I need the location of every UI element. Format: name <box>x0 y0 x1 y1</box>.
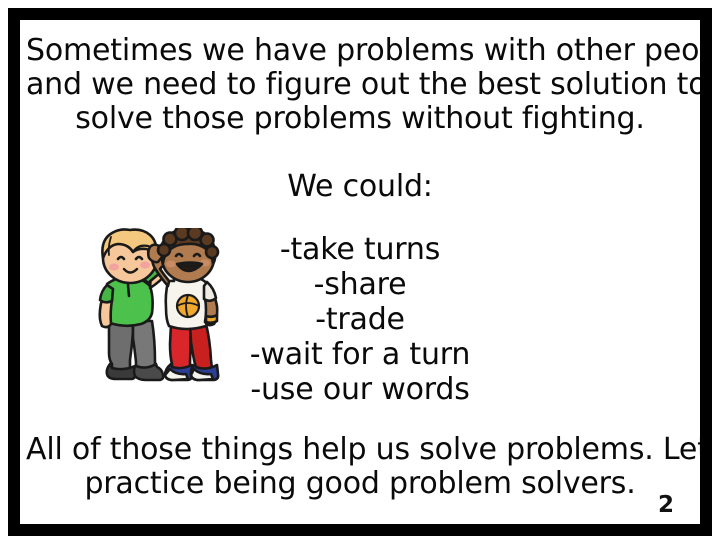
closing-paragraph: All of those things help us solve proble… <box>26 433 694 501</box>
intro-line-3: solve those problems without fighting. <box>26 102 694 136</box>
page-number: 2 <box>658 492 674 518</box>
two-children-high-five-icon <box>78 228 234 388</box>
closing-line-1: All of those things help us solve proble… <box>26 433 694 467</box>
prompt-heading: We could: <box>26 170 694 204</box>
intro-paragraph: Sometimes we have problems with other pe… <box>26 34 694 136</box>
closing-line-2: practice being good problem solvers. <box>26 467 694 501</box>
slide: Sometimes we have problems with other pe… <box>0 0 720 556</box>
intro-line-2: and we need to figure out the best solut… <box>26 68 694 102</box>
slide-frame: Sometimes we have problems with other pe… <box>8 8 712 536</box>
slide-page: Sometimes we have problems with other pe… <box>20 20 700 524</box>
intro-line-1: Sometimes we have problems with other pe… <box>26 34 694 68</box>
